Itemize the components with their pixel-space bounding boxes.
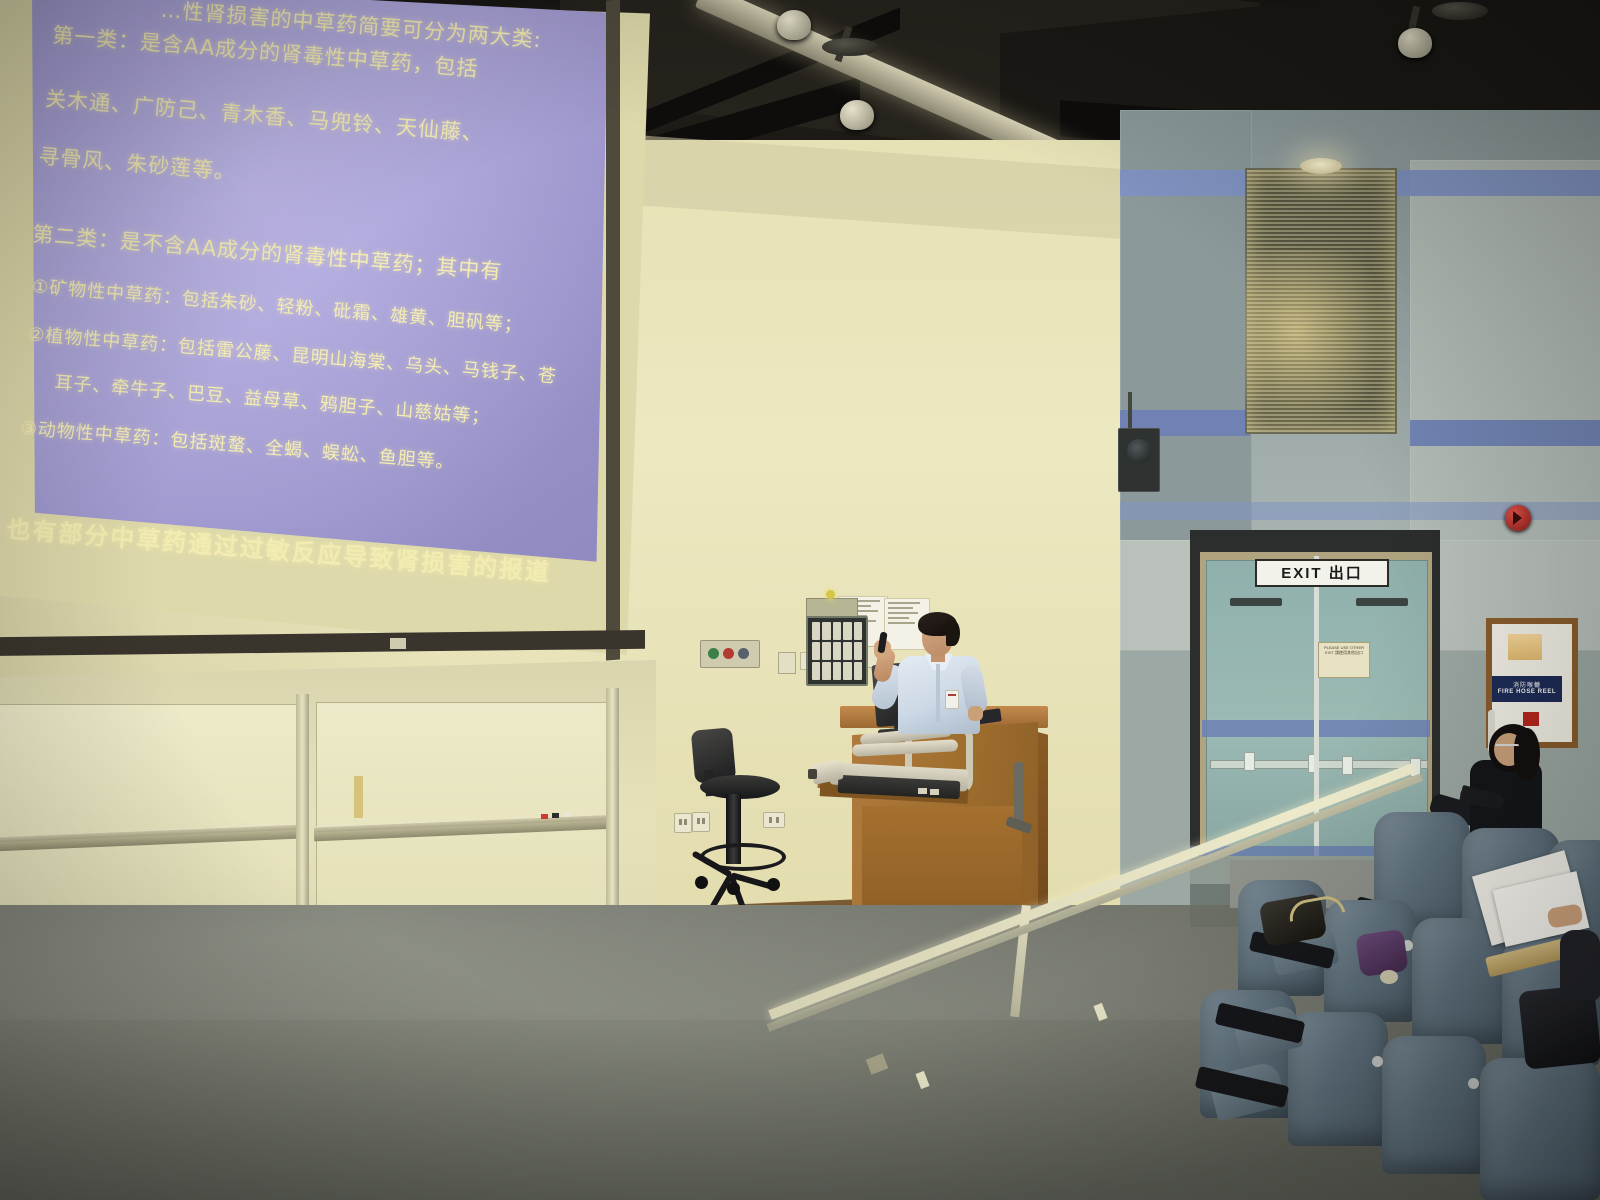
- panel-switch[interactable]: [833, 622, 841, 640]
- projection-screen-area: …性肾损害的中草药简要可分为两大类: 第一类：是含AA成分的肾毒性中草药，包括 …: [0, 0, 670, 680]
- speaker-bracket: [1128, 392, 1132, 432]
- lecture-hall-photo: EXIT 出口 PLEASE USE OTHER EXIT 請使用其他出口 消防…: [0, 0, 1600, 1200]
- downlight-icon: [1300, 158, 1342, 174]
- whiteboard-panel-left[interactable]: [0, 704, 298, 936]
- panel-switch[interactable]: [843, 662, 851, 680]
- power-off-button[interactable]: [723, 648, 734, 659]
- whiteboard-hinge: [354, 776, 363, 818]
- panel-switch[interactable]: [822, 662, 830, 680]
- presenter-hair-side: [946, 620, 960, 646]
- fire-alarm-icon[interactable]: [1505, 505, 1531, 531]
- door-closer-bar: [1356, 598, 1408, 606]
- reader-torso: [1560, 930, 1600, 1000]
- panel-switch[interactable]: [854, 642, 862, 660]
- spotlight-icon: [840, 100, 874, 130]
- power-on-button[interactable]: [708, 648, 719, 659]
- panel-switch[interactable]: [812, 622, 820, 640]
- panel-switch[interactable]: [854, 622, 862, 640]
- eraser-icon[interactable]: [563, 812, 570, 817]
- wall-panel: [1410, 160, 1600, 542]
- whiteboard-divider: [606, 688, 619, 936]
- panel-switch[interactable]: [833, 662, 841, 680]
- spotlight-icon: [777, 10, 811, 40]
- audience-seat[interactable]: [1382, 1036, 1486, 1174]
- slide-line-emphasis: 也有部分中草药通过过敏反应导致肾损害的报道: [5, 509, 552, 588]
- slide-line: 寻骨风、朱砂莲等。: [38, 140, 238, 186]
- fire-alarm-call-point[interactable]: [1523, 712, 1539, 726]
- av-control-panel[interactable]: [806, 616, 868, 686]
- spotlight-mount-icon: [822, 38, 878, 56]
- presenter-shirt-placket: [936, 664, 940, 722]
- fire-hose-reel-label: 消防喉轆 FIRE HOSE REEL: [1492, 676, 1562, 702]
- panel-switch[interactable]: [822, 642, 830, 660]
- power-outlet[interactable]: [692, 812, 710, 832]
- power-outlet[interactable]: [674, 813, 692, 833]
- wall-accent-stripe: [1410, 420, 1600, 446]
- jacket-item: [1380, 970, 1398, 984]
- louver-glow: [1245, 250, 1393, 430]
- visualizer-button[interactable]: [918, 788, 927, 794]
- presenter-right-hand: [968, 706, 983, 721]
- purple-jacket[interactable]: [1355, 929, 1408, 977]
- fire-hose-reel-label-en: FIRE HOSE REEL: [1498, 689, 1556, 695]
- marker-black-icon[interactable]: [552, 813, 559, 818]
- power-aux-button[interactable]: [738, 648, 749, 659]
- audience-seat[interactable]: [1480, 1058, 1600, 1200]
- panel-switch[interactable]: [812, 642, 820, 660]
- screen-center-tab: [390, 638, 406, 649]
- fire-hose-cabinet-window: [1508, 634, 1542, 660]
- door-bolt-icon: [1244, 752, 1255, 771]
- panel-indicator-icon: [826, 590, 835, 599]
- power-outlet[interactable]: [763, 812, 785, 828]
- podium-handle[interactable]: [1014, 762, 1024, 826]
- door-push-bar[interactable]: [1210, 760, 1428, 769]
- panel-switch[interactable]: [854, 662, 862, 680]
- slide-line: 第二类：是不含AA成分的肾毒性中草药；其中有: [31, 218, 503, 286]
- exit-sign-label: EXIT 出口: [1281, 566, 1363, 581]
- exit-sign: EXIT 出口: [1255, 559, 1389, 587]
- wall-speaker: [1118, 428, 1160, 492]
- door-bolt-icon: [1342, 756, 1353, 775]
- panel-switch[interactable]: [812, 662, 820, 680]
- panel-switch[interactable]: [822, 622, 830, 640]
- screen-right-edge: [606, 0, 620, 660]
- presenter-name-badge: [945, 690, 959, 709]
- stool-base: [691, 862, 785, 886]
- visualizer-button[interactable]: [930, 789, 939, 795]
- person-hair-side: [1514, 728, 1540, 780]
- slide-line: 关木通、广防己、青木香、马兜铃、天仙藤、: [44, 83, 485, 148]
- door-closer-bar: [1230, 598, 1282, 606]
- seat-hinge-icon: [1372, 1056, 1383, 1067]
- slide-line: ③动物性中草药：包括斑蝥、全蝎、蜈蚣、鱼胆等。: [20, 414, 456, 475]
- panel-switch[interactable]: [833, 642, 841, 660]
- camera-lens-icon: [808, 769, 817, 779]
- whiteboard-divider: [296, 694, 309, 940]
- seat-hinge-icon: [1468, 1078, 1479, 1089]
- spotlight-icon: [1398, 28, 1432, 58]
- slide-text-block: …性肾损害的中草药简要可分为两大类: 第一类：是含AA成分的肾毒性中草药，包括 …: [0, 0, 640, 656]
- panel-switch[interactable]: [843, 622, 851, 640]
- marker-red-icon[interactable]: [541, 814, 548, 819]
- spotlight-mount-icon: [1432, 2, 1488, 20]
- door-notice-sign: PLEASE USE OTHER EXIT 請使用其他出口: [1318, 642, 1370, 678]
- panel-switch[interactable]: [843, 642, 851, 660]
- wall-blank-plate: [778, 652, 796, 674]
- eyeglasses-icon: [1495, 744, 1519, 750]
